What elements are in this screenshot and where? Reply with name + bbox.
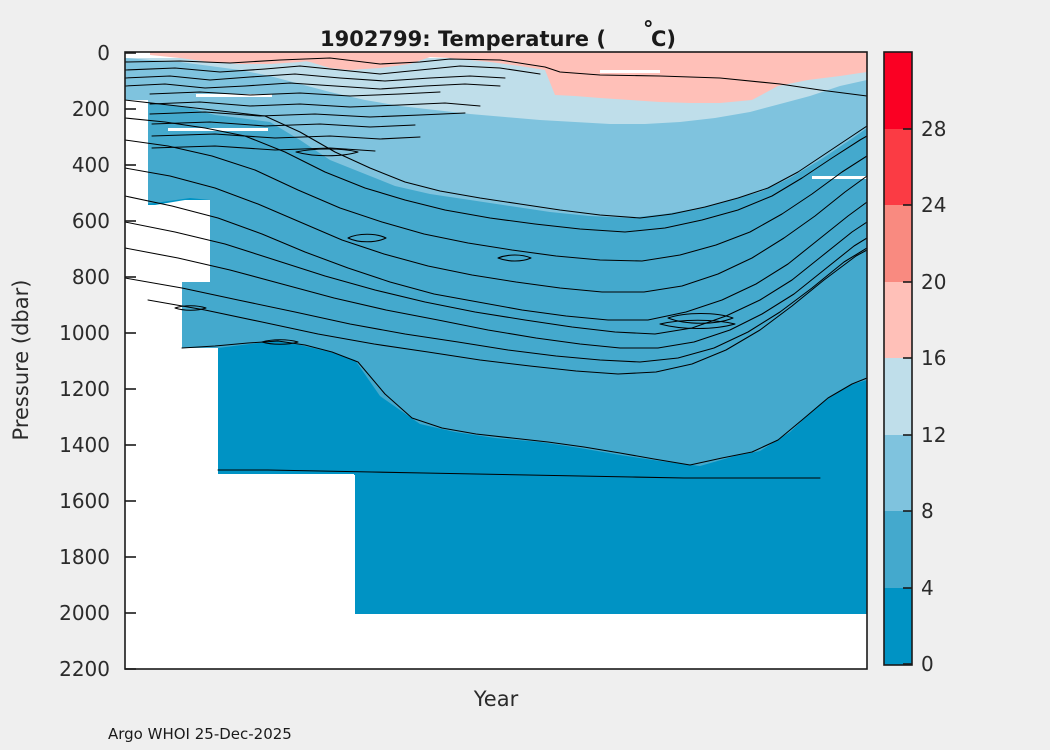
nodata-sliver-d xyxy=(812,176,867,179)
colorbar-band-16-20 xyxy=(884,282,912,358)
colorbar-label-0: 0 xyxy=(921,652,934,676)
colorbar-label-20: 20 xyxy=(921,270,946,294)
colorbar-band-12-16 xyxy=(884,358,912,435)
contour-field xyxy=(125,52,867,669)
y-tick-label-2000: 2000 xyxy=(59,601,110,625)
y-tick-label-2200: 2200 xyxy=(59,657,110,681)
colorbar-band-28-30 xyxy=(884,52,912,129)
colorbar-label-24: 24 xyxy=(921,193,946,217)
colorbar-label-28: 28 xyxy=(921,117,946,141)
nodata-sliver-c xyxy=(600,70,660,73)
footer-credit: Argo WHOI 25-Dec-2025 xyxy=(108,725,292,743)
y-tick-label-600: 600 xyxy=(72,209,110,233)
colorbar-label-16: 16 xyxy=(921,346,946,370)
y-axis-label: Pressure (dbar) xyxy=(9,280,33,441)
y-tick-label-0: 0 xyxy=(97,41,110,65)
colorbar-band-0-4 xyxy=(884,588,912,665)
colorbar-band-24-28 xyxy=(884,129,912,205)
y-tick-label-1000: 1000 xyxy=(59,321,110,345)
colorbar-band-8-12 xyxy=(884,435,912,511)
y-tick-label-200: 200 xyxy=(72,97,110,121)
y-tick-label-1800: 1800 xyxy=(59,545,110,569)
page-title: 1902799: Temperature ( xyxy=(320,27,606,51)
y-tick-label-1600: 1600 xyxy=(59,489,110,513)
temperature-section-figure: 1902799: Temperature ( ° C) xyxy=(0,0,1050,750)
x-axis-label: Year xyxy=(473,687,519,711)
nodata-mask-bottom xyxy=(125,614,820,669)
colorbar-label-4: 4 xyxy=(921,576,934,600)
colorbar-label-12: 12 xyxy=(921,423,946,447)
y-tick-label-1200: 1200 xyxy=(59,377,110,401)
y-tick-label-400: 400 xyxy=(72,153,110,177)
colorbar-band-4-8 xyxy=(884,511,912,588)
colorbar-label-8: 8 xyxy=(921,499,934,523)
y-tick-label-800: 800 xyxy=(72,265,110,289)
nodata-mask-deep-right xyxy=(820,614,867,669)
plot-area xyxy=(125,52,867,669)
colorbar-band-20-24 xyxy=(884,205,912,282)
title-units-tail: C) xyxy=(651,27,676,51)
y-tick-label-1400: 1400 xyxy=(59,433,110,457)
